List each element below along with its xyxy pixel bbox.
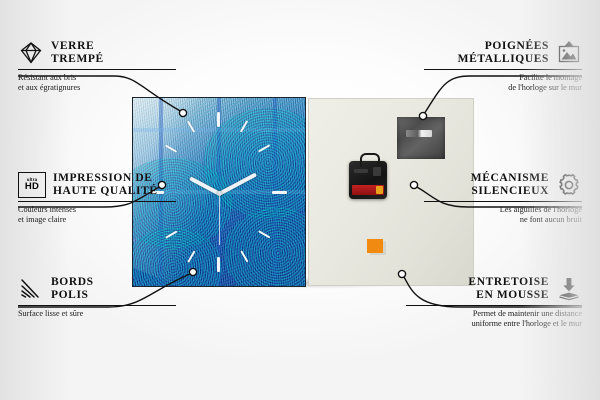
feature-rule <box>18 69 176 70</box>
connector-dot-verre-trempe <box>179 109 186 116</box>
feature-description: Surface lisse et sûre <box>18 309 176 319</box>
feature-rule <box>18 305 176 306</box>
feature-header: BORDSPOLIS <box>18 276 176 302</box>
connector-dot-poignees <box>419 112 426 119</box>
feature-description: Les aiguilles de l'horlogene font aucun … <box>424 205 582 225</box>
connector-dot-bords-polis <box>189 268 196 275</box>
feature-rule <box>424 69 582 70</box>
feature-description: Facilite le montagede l'horloge sur le m… <box>424 73 582 93</box>
ultra-hd-icon: ultra HD <box>18 172 46 198</box>
connector-dot-mecanisme <box>410 181 417 188</box>
feature-mecanisme-silencieux[interactable]: MÉCANISMESILENCIEUX Les aiguilles de l'h… <box>424 172 582 225</box>
feature-header: VERRETREMPÉ <box>18 40 176 66</box>
feature-title: IMPRESSION DEHAUTE QUALITÉ <box>53 172 158 198</box>
feature-description: Permet de maintenir une distanceuniforme… <box>406 309 582 329</box>
feature-header: POIGNÉESMÉTALLIQUES <box>424 40 582 66</box>
gear-icon <box>556 172 582 198</box>
connector-dot-entretoise <box>398 270 405 277</box>
polished-edge-icon <box>18 276 44 302</box>
feature-title: ENTRETOISEEN MOUSSE <box>468 276 549 302</box>
feature-rule <box>18 201 176 202</box>
feature-bords-polis[interactable]: BORDSPOLIS Surface lisse et sûre <box>18 276 176 319</box>
feature-rule <box>406 305 582 306</box>
feature-description: Résistant aux briset aux égratignures <box>18 73 176 93</box>
hd-icon-hd-text: HD <box>25 182 39 192</box>
feature-header: MÉCANISMESILENCIEUX <box>424 172 582 198</box>
feature-poignees-metalliques[interactable]: POIGNÉESMÉTALLIQUES Facilite le montaged… <box>424 40 582 93</box>
infographic-canvas: VERRETREMPÉ Résistant aux briset aux égr… <box>0 0 600 400</box>
feature-title: MÉCANISMESILENCIEUX <box>471 172 549 198</box>
feature-description: Couleurs intenseset image claire <box>18 205 176 225</box>
feature-entretoise-en-mousse[interactable]: ENTRETOISEEN MOUSSE Permet de maintenir … <box>406 276 582 329</box>
feature-header: ENTRETOISEEN MOUSSE <box>406 276 582 302</box>
framed-picture-hook-icon <box>556 40 582 66</box>
feature-title: POIGNÉESMÉTALLIQUES <box>458 40 549 66</box>
feature-title: BORDSPOLIS <box>51 276 94 302</box>
press-down-pad-icon <box>556 276 582 302</box>
feature-verre-trempe[interactable]: VERRETREMPÉ Résistant aux briset aux égr… <box>18 40 176 93</box>
feature-rule <box>424 201 582 202</box>
feature-impression-hd[interactable]: ultra HD IMPRESSION DEHAUTE QUALITÉ Coul… <box>18 172 176 225</box>
feature-header: ultra HD IMPRESSION DEHAUTE QUALITÉ <box>18 172 176 198</box>
feature-title: VERRETREMPÉ <box>51 40 104 66</box>
diamond-icon <box>18 40 44 66</box>
